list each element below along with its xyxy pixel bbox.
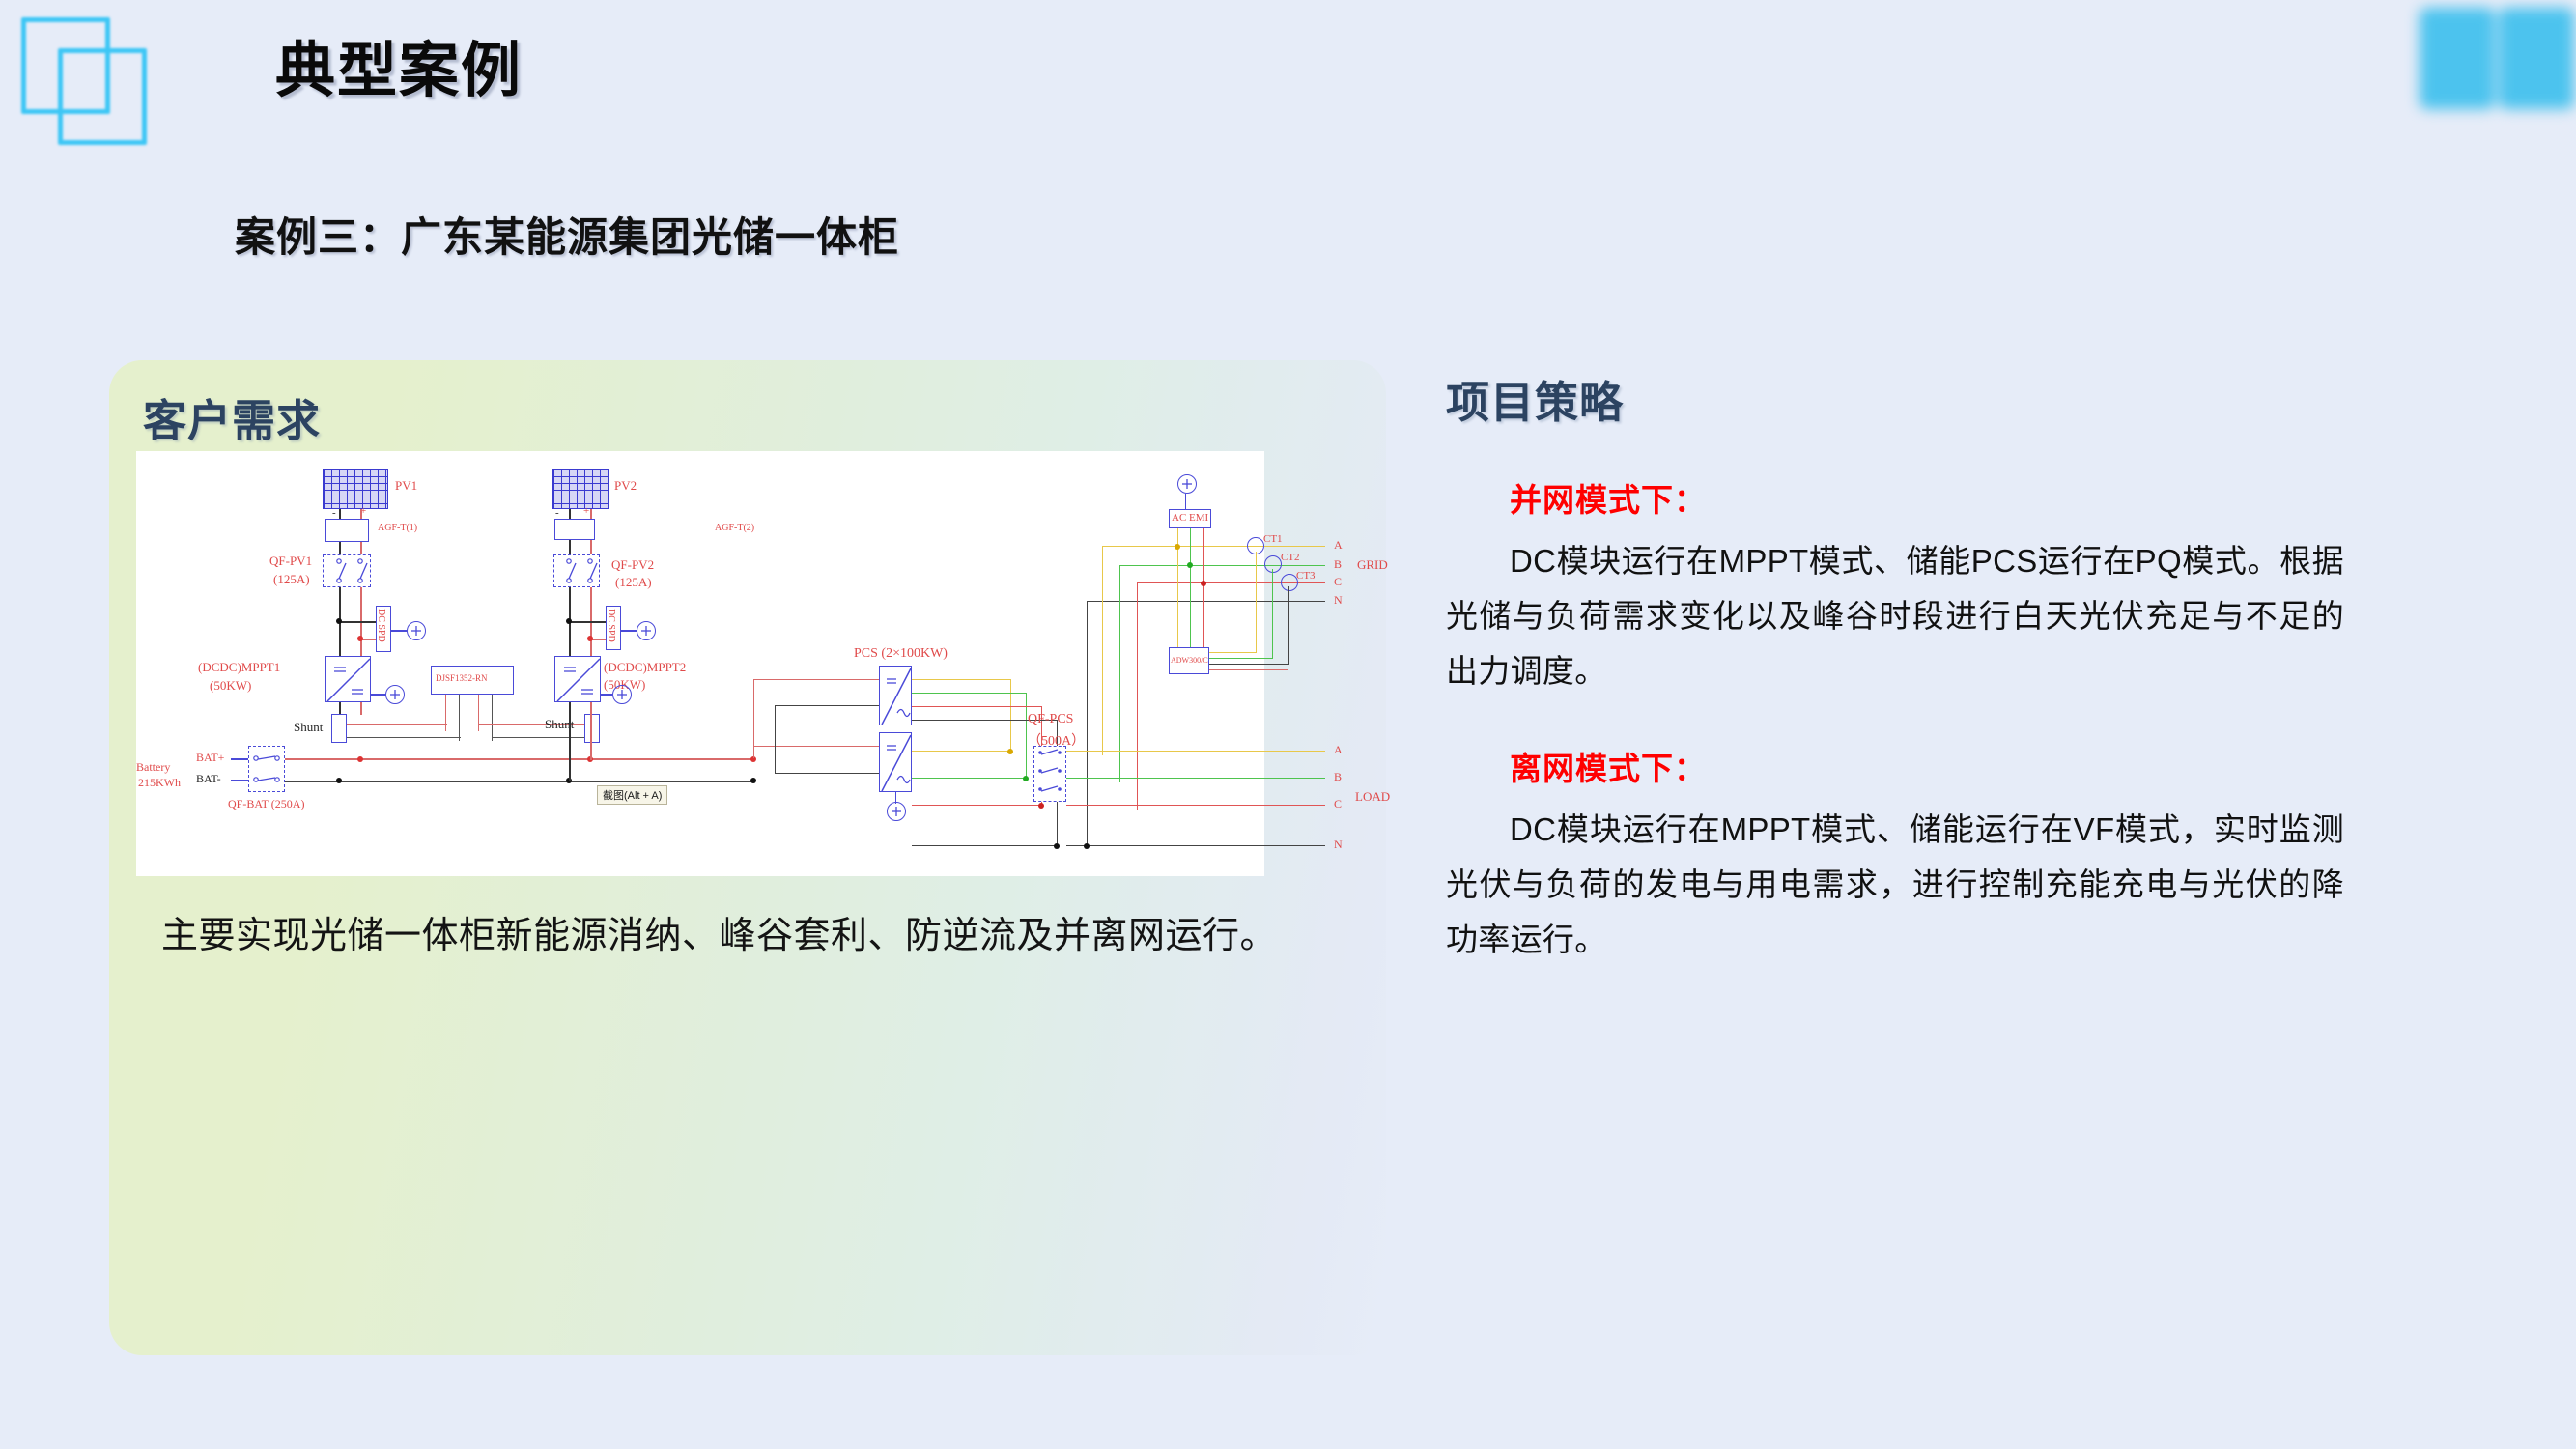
qf-pcs-label: QF-PCS	[1028, 712, 1073, 727]
blue-block-left	[2420, 8, 2495, 109]
battery-capacity-label: 215KWh	[138, 776, 181, 790]
ground-icon	[385, 685, 405, 704]
grid-label: GRID	[1357, 557, 1388, 573]
qf-pv2-rating-label: (125A)	[615, 575, 652, 590]
strategy-panel-title: 项目策略	[1446, 367, 2344, 430]
junction-dot	[1007, 749, 1013, 754]
ct2-label: CT2	[1281, 552, 1300, 563]
pcs-label: PCS (2×100KW)	[854, 646, 948, 662]
strategy-block-off-grid: 离网模式下： DC模块运行在MPPT模式、储能运行在VF模式，实时监测光伏与负荷…	[1446, 743, 2344, 967]
junction-dot	[1187, 562, 1193, 568]
junction-dot	[587, 636, 593, 641]
qf-pcs-contacts	[1033, 746, 1066, 802]
load-phase-c-label: C	[1334, 797, 1342, 811]
qf-pv1-rating-label: (125A)	[273, 572, 310, 587]
ground-icon	[407, 621, 426, 640]
page-title: 典型案例	[275, 21, 523, 108]
earth-icon	[1177, 474, 1197, 494]
pcs-unit-1	[879, 666, 912, 725]
agf-t1-box	[325, 519, 369, 542]
blue-block-right	[2499, 8, 2574, 109]
overlapping-squares-logo	[12, 8, 166, 153]
mppt2-converter	[554, 656, 601, 702]
strategy-heading-off-grid: 离网模式下：	[1446, 743, 2344, 789]
qf-pv1-contacts	[323, 554, 371, 587]
decorative-blue-blocks	[2420, 8, 2574, 109]
mppt1-rating-label: (50KW)	[210, 678, 251, 694]
junction-dot	[336, 778, 342, 783]
junction-dot	[566, 618, 572, 624]
junction-dot	[1023, 776, 1029, 781]
case-subtitle: 案例三：广东某能源集团光储一体柜	[235, 205, 899, 264]
qf-pv2-contacts	[553, 554, 600, 587]
battery-label: Battery	[136, 760, 170, 775]
strategy-body-grid-tied: DC模块运行在MPPT模式、储能PCS运行在PQ模式。根据光储与负荷需求变化以及…	[1446, 534, 2344, 698]
pcs-unit-2	[879, 732, 912, 792]
load-phase-b-label: B	[1334, 770, 1342, 784]
qf-bat-label: QF-BAT (250A)	[228, 797, 304, 811]
pv2-label: PV2	[614, 478, 637, 494]
load-phase-n-label: N	[1334, 838, 1343, 852]
qf-pv2-label: QF-PV2	[611, 557, 654, 573]
strategy-heading-grid-tied: 并网模式下：	[1446, 474, 2344, 521]
bat-minus-label: BAT-	[196, 772, 221, 786]
junction-dot	[1054, 843, 1060, 849]
ct3-label: CT3	[1296, 570, 1316, 582]
adw-meter-label: ADW300/C	[1171, 656, 1208, 665]
junction-dot	[1201, 581, 1206, 586]
ac-emi-label: AC EMI	[1172, 512, 1208, 524]
grid-phase-b-label: B	[1334, 557, 1342, 572]
qf-pv1-label: QF-PV1	[269, 554, 312, 569]
project-strategy-panel: 项目策略 并网模式下： DC模块运行在MPPT模式、储能PCS运行在PQ模式。根…	[1446, 367, 2344, 968]
shunt1-box	[331, 714, 347, 743]
schematic-diagram: PV1 - + AGF-T(1) QF-PV1 (125A) DC SPD	[136, 451, 1264, 876]
logo-square-front	[58, 48, 147, 145]
customer-description: 主要实现光储一体柜新能源消纳、峰谷套利、防逆流及并离网运行。	[161, 911, 1301, 963]
junction-dot	[357, 636, 363, 641]
junction-dot	[1038, 803, 1044, 809]
mppt1-label: (DCDC)MPPT1	[198, 660, 280, 675]
pv1-label: PV1	[395, 478, 417, 494]
grid-phase-n-label: N	[1334, 593, 1343, 608]
shunt2-box	[584, 714, 600, 743]
strategy-body-off-grid: DC模块运行在MPPT模式、储能运行在VF模式，实时监测光伏与负荷的发电与用电需…	[1446, 803, 2344, 967]
pv1-module	[323, 469, 388, 509]
pv2-plus-label: +	[583, 505, 589, 517]
junction-dot	[336, 618, 342, 624]
ground-icon	[637, 621, 656, 640]
mppt1-converter	[325, 656, 371, 702]
grid-phase-c-label: C	[1334, 575, 1342, 589]
junction-dot	[1084, 843, 1090, 849]
agf-t2-text: AGF-T(2)	[715, 523, 754, 533]
pv1-minus-label: -	[332, 507, 336, 519]
agf-t2-box	[554, 519, 595, 540]
dc-spd1-label: DC SPD	[376, 609, 386, 642]
pv2-minus-label: -	[555, 507, 559, 519]
load-label: LOAD	[1355, 789, 1390, 805]
customer-requirement-panel: 客户需求 PV1 - + AGF-T(1) QF-PV1 (125A) DC S…	[109, 360, 1386, 1355]
mppt2-label: (DCDC)MPPT2	[604, 660, 686, 675]
ground-icon	[612, 685, 632, 704]
customer-panel-title: 客户需求	[143, 385, 321, 448]
junction-dot	[357, 756, 363, 762]
load-phase-a-label: A	[1334, 743, 1343, 757]
junction-dot	[750, 778, 756, 783]
shunt1-label: Shunt	[294, 720, 323, 735]
agf-t1-label: AGF-T(1)	[378, 523, 417, 533]
capture-tooltip: 截图(Alt + A)	[597, 785, 667, 805]
ground-icon	[887, 802, 906, 821]
dc-spd2-label: DC SPD	[606, 609, 616, 642]
qf-bat-contacts	[248, 746, 285, 792]
ct1-label: CT1	[1263, 533, 1283, 545]
strategy-block-grid-tied: 并网模式下： DC模块运行在MPPT模式、储能PCS运行在PQ模式。根据光储与负…	[1446, 474, 2344, 698]
bat-plus-label: BAT+	[196, 751, 224, 765]
djsf-meter-label: DJSF1352-RN	[436, 673, 488, 683]
grid-phase-a-label: A	[1334, 538, 1343, 553]
junction-dot	[1175, 544, 1180, 550]
pv2-module	[552, 469, 609, 509]
